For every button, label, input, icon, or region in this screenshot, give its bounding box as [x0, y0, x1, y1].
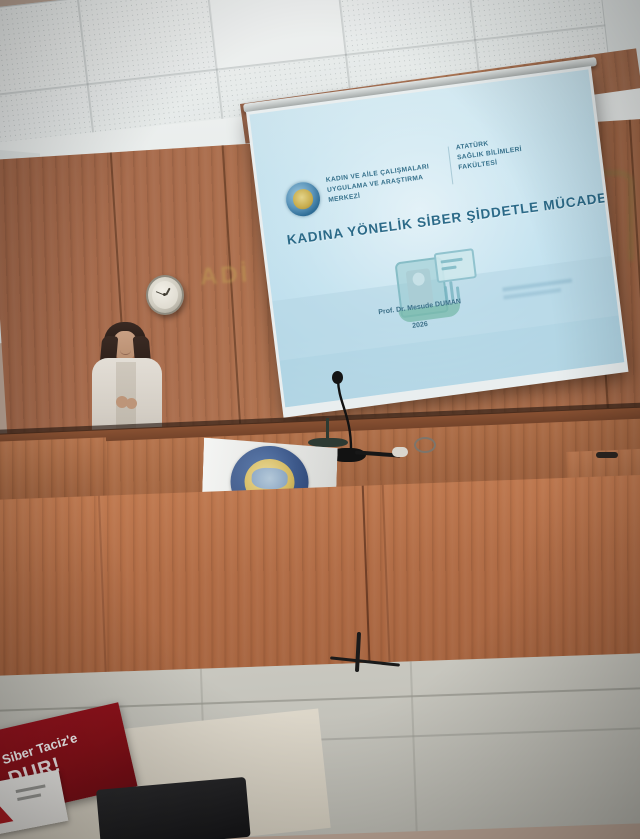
banner-mount: [308, 438, 348, 447]
projector-screen-frame: KADIN VE AİLE ÇALIŞMALARI UYGULAMA VE AR…: [246, 66, 628, 418]
desk-clip: [392, 447, 408, 457]
lecture-hall-photo: ADİ KADIN VE AİLE ÇALIŞMALARI UYGULAMA V…: [0, 0, 640, 839]
warning-triangle-icon: [0, 803, 13, 825]
projected-slide: KADIN VE AİLE ÇALIŞMALARI UYGULAMA VE AR…: [249, 69, 624, 407]
banner-pole: [326, 418, 329, 440]
desk-ring: [414, 437, 436, 453]
desk-object: [596, 452, 618, 458]
wall-clock: [146, 275, 184, 315]
wall-letters: ADİ: [199, 260, 251, 291]
cyber-harassment-illustration: [388, 244, 484, 331]
